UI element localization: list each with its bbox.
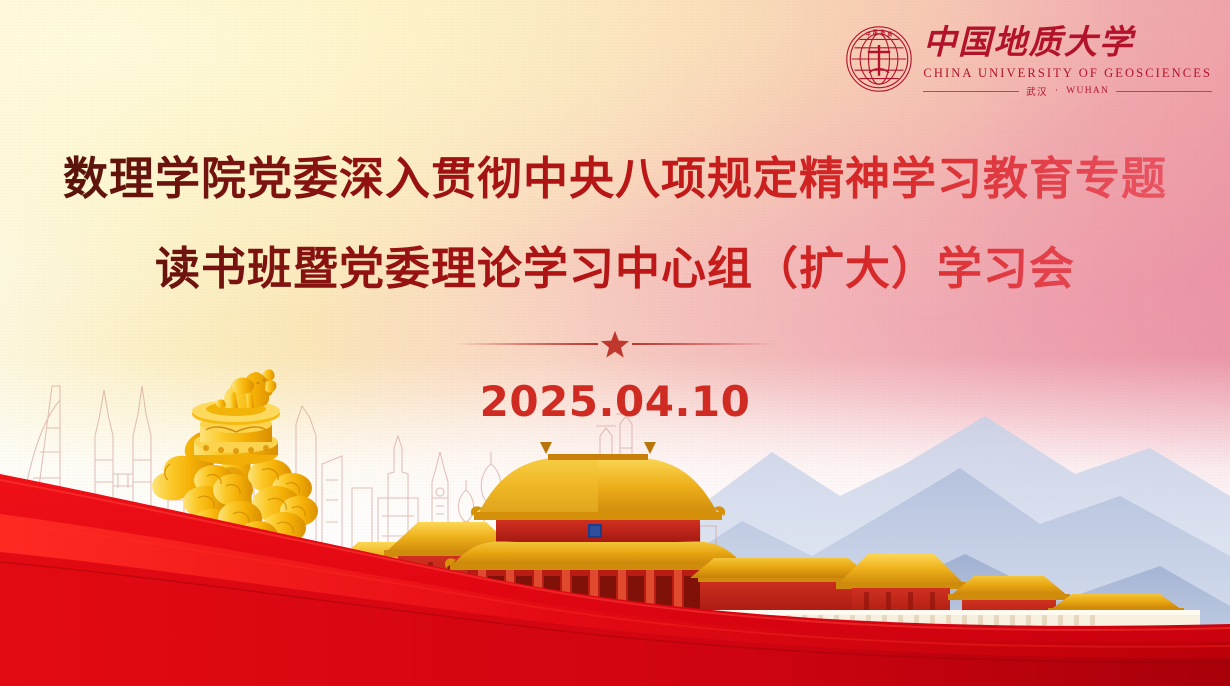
logo-rule-right (1116, 91, 1212, 92)
headline-line-2: 读书班暨党委理论学习中心组（扩大）学习会 (0, 233, 1230, 305)
university-logo: 中国地质 中国地质大学 CHINA UNIVERSITY OF GEOSCIEN… (844, 20, 1212, 98)
event-date: 2025.04.10 (0, 377, 1230, 426)
svg-text:中国地质大学: 中国地质大学 (923, 23, 1137, 62)
logo-name-en-group: CHINA UNIVERSITY OF GEOSCIENCES 武汉 · WUH… (923, 66, 1212, 98)
svg-text:中: 中 (866, 31, 871, 38)
logo-campus-en: WUHAN (1066, 86, 1109, 96)
star-divider (440, 327, 790, 361)
logo-campus-cn: 武汉 (1026, 84, 1048, 98)
logo-name-cn: 中国地质大学 (923, 20, 1212, 65)
poster-canvas: 中国地质 中国地质大学 CHINA UNIVERSITY OF GEOSCIEN… (0, 0, 1230, 686)
logo-campus-separator: · (1055, 86, 1059, 96)
circular-university-seal-icon: 中国地质 (844, 24, 914, 94)
svg-text:质: 质 (888, 31, 893, 38)
logo-campus-line: 武汉 · WUHAN (923, 84, 1212, 98)
page-title: 数理学院党委深入贯彻中央八项规定精神学习教育专题 读书班暨党委理论学习中心组（扩… (0, 143, 1230, 305)
headline-line-1: 数理学院党委深入贯彻中央八项规定精神学习教育专题 (0, 143, 1230, 215)
svg-text:地: 地 (881, 29, 886, 36)
logo-name-en: CHINA UNIVERSITY OF GEOSCIENCES (923, 66, 1212, 81)
divider-rule-left (455, 343, 598, 345)
five-pointed-star-icon (600, 329, 630, 359)
svg-text:国: 国 (873, 29, 878, 36)
logo-rule-left (923, 91, 1019, 92)
divider-rule-right (632, 343, 775, 345)
